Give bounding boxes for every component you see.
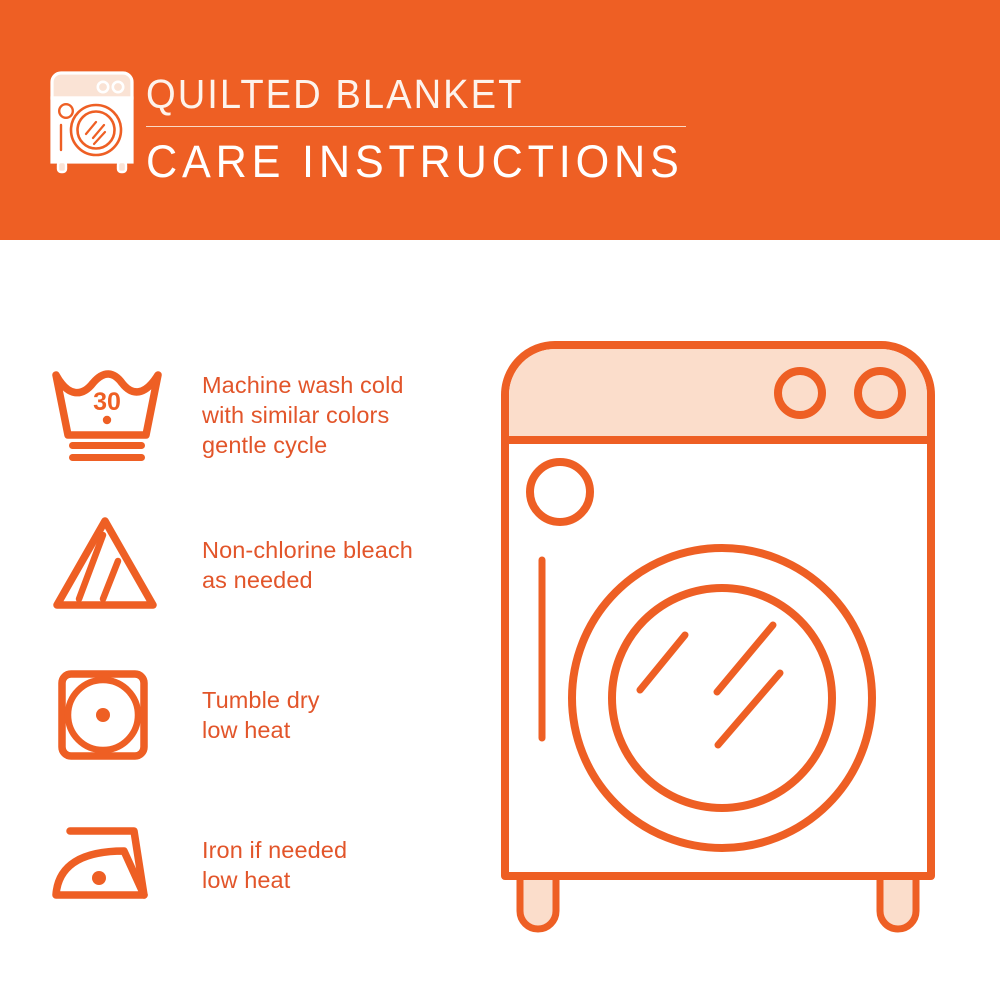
header-title-block: QUILTED BLANKET CARE INSTRUCTIONS [146,70,706,188]
care-text-line-2: low heat [202,865,490,895]
wash-tub-30-icon: 30 [48,340,178,490]
care-text-line-2: low heat [202,715,490,745]
title-divider [146,126,686,127]
care-instructions-page: QUILTED BLANKET CARE INSTRUCTIONS 30 [0,0,1000,1000]
front-load-washing-machine-illustration [480,320,980,950]
care-text-line-2: as needed [202,565,490,595]
care-instruction-list: 30 Machine wash cold with similar colors… [0,240,490,1000]
non-chlorine-bleach-triangle-icon [48,490,178,640]
care-instruction-text: Iron if needed low heat [202,790,490,940]
care-text-line-1: Machine wash cold [202,370,490,400]
care-text-line-1: Iron if needed [202,835,490,865]
care-instruction-text: Tumble dry low heat [202,640,490,790]
care-instruction-text: Non-chlorine bleach as needed [202,490,490,640]
iron-low-heat-icon [48,790,178,940]
care-text-line-1: Tumble dry [202,685,490,715]
page-header: QUILTED BLANKET CARE INSTRUCTIONS [0,0,1000,240]
tumble-dry-low-heat-icon [48,640,178,790]
page-title-secondary: CARE INSTRUCTIONS [146,136,684,188]
machine-leg-right [880,875,916,929]
care-instruction-row: 30 Machine wash cold with similar colors… [0,340,490,490]
page-title-primary: QUILTED BLANKET [146,70,667,118]
wash-temperature-label: 30 [93,388,121,416]
machine-control-panel [509,349,927,440]
care-text-line-1: Non-chlorine bleach [202,535,490,565]
care-text-line-2: with similar colors [202,400,490,430]
machine-leg-left [520,875,556,929]
care-instruction-text: Machine wash cold with similar colors ge… [202,340,490,490]
care-instruction-row: Iron if needed low heat [0,790,490,940]
care-instruction-row: Non-chlorine bleach as needed [0,490,490,640]
care-instruction-row: Tumble dry low heat [0,640,490,790]
care-text-line-3: gentle cycle [202,430,490,460]
washing-machine-icon [44,68,140,174]
